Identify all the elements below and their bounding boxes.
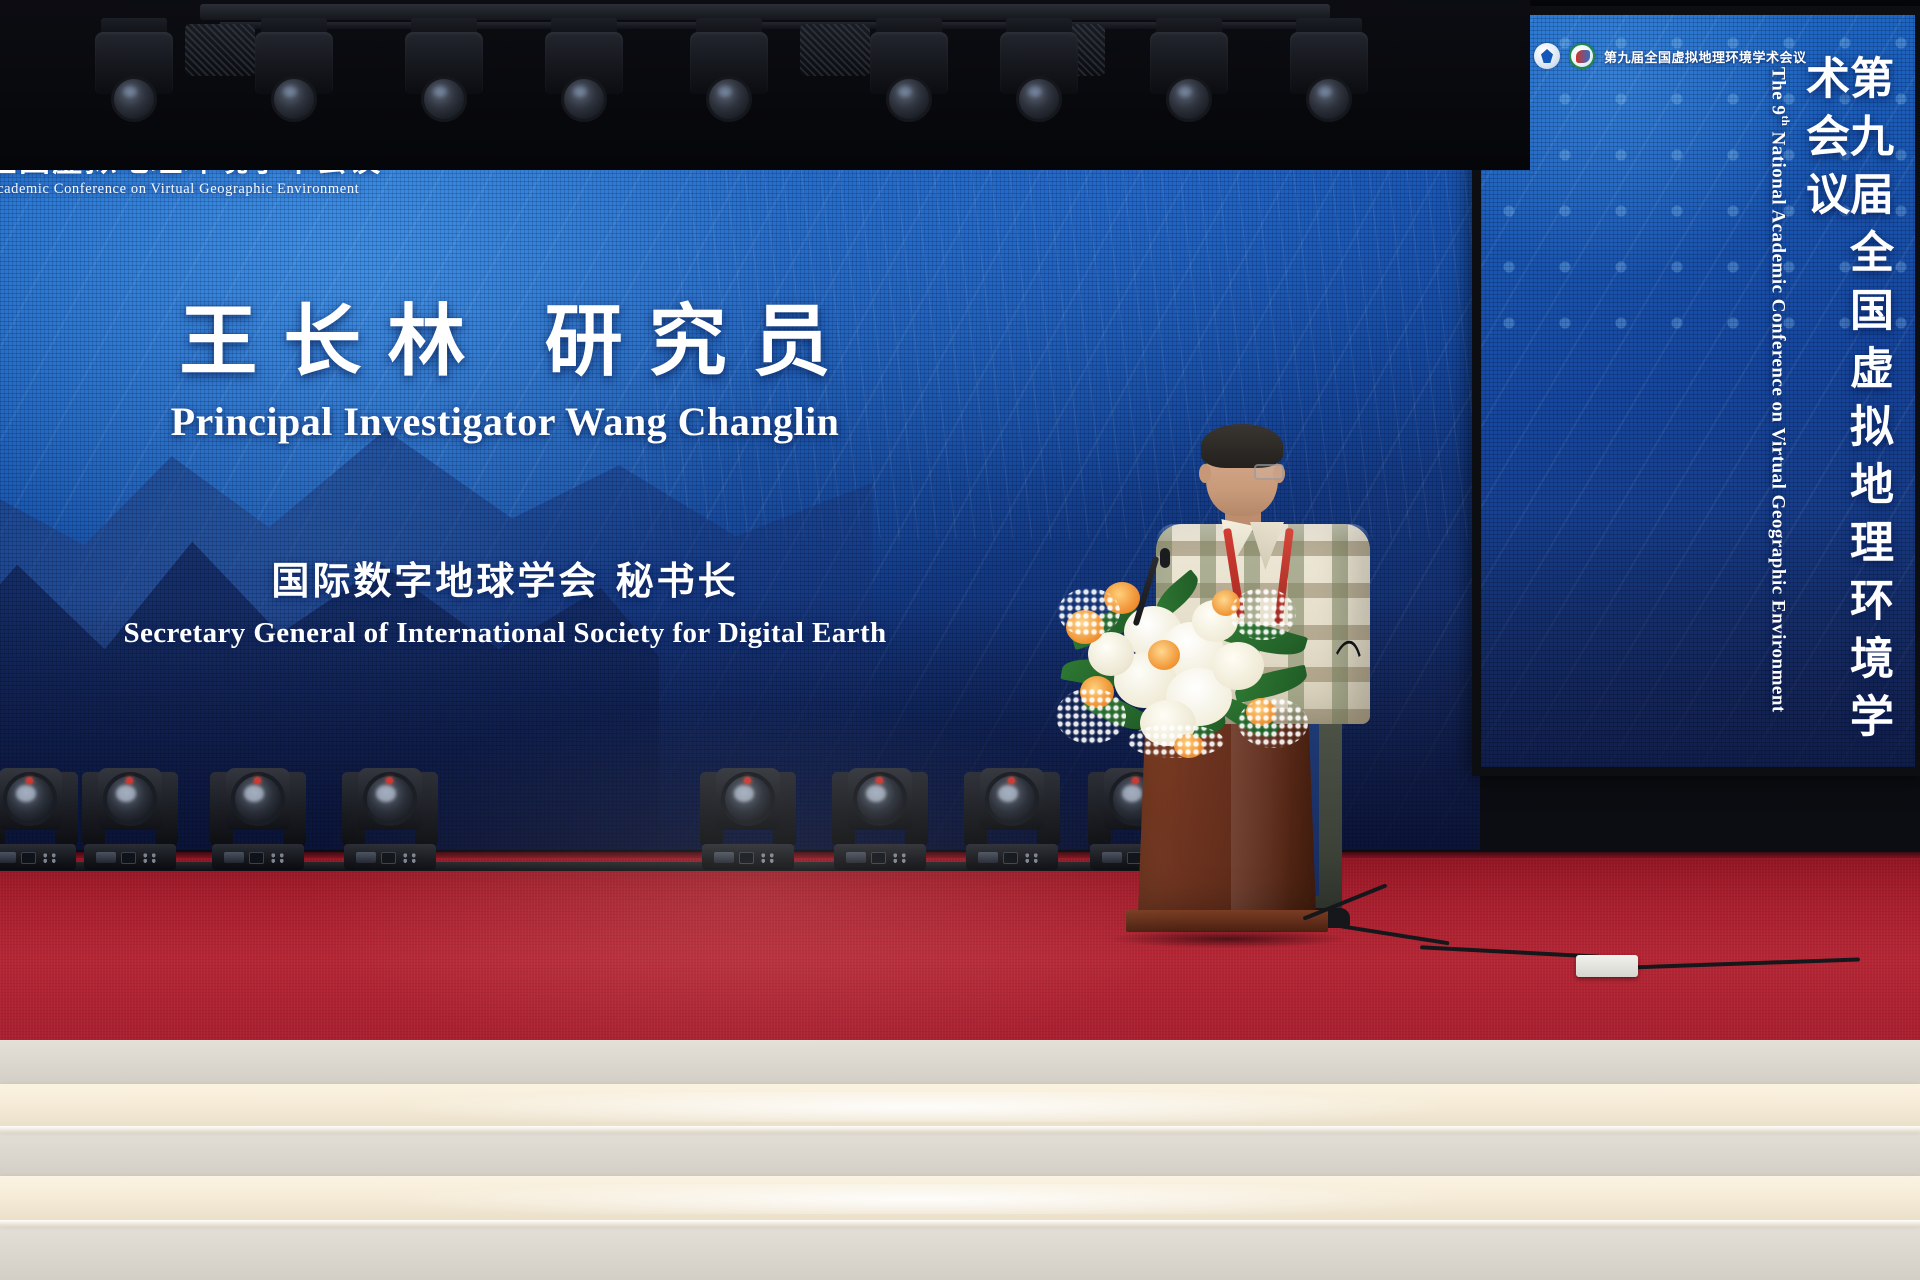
babys-breath-spray bbox=[1238, 698, 1308, 748]
speaker-role-cn: 国际数字地球学会 秘书长 bbox=[0, 550, 1010, 605]
floor-moving-head-light bbox=[342, 752, 438, 870]
hanging-moving-light bbox=[405, 18, 483, 126]
ceiling-speaker-grille bbox=[800, 24, 870, 76]
right-screen-logo-row: 第九届全国虚拟地理环境学术会议 bbox=[1499, 43, 1807, 69]
babys-breath-spray bbox=[1056, 688, 1126, 744]
floor-moving-head-light bbox=[0, 752, 78, 870]
speaker-title-block: 王长林 研究员 Principal Investigator Wang Chan… bbox=[0, 300, 1010, 650]
speaker-glasses-icon bbox=[1254, 464, 1284, 480]
society-logo-3-icon bbox=[1569, 43, 1595, 69]
power-adapter-brick bbox=[1576, 955, 1638, 977]
right-led-panel-frame: 第九届全国虚拟地理环境学术会议 第九届全国虚拟地理环境学术会议 The 9th … bbox=[1472, 6, 1920, 776]
vertical-en-rest: National Academic Conference on Virtual … bbox=[1768, 126, 1789, 713]
speaker-name-en: Principal Investigator Wang Changlin bbox=[0, 398, 1010, 445]
orange-flower bbox=[1148, 640, 1180, 670]
speaker-hair bbox=[1201, 424, 1283, 468]
babys-breath-spray bbox=[1128, 724, 1224, 758]
conference-stage-photo: 全国虚拟地理环境学术会议 Academic Conference on Virt… bbox=[0, 0, 1920, 1280]
microphone-head-icon bbox=[1160, 548, 1170, 568]
floor-moving-head-light bbox=[210, 752, 306, 870]
hanging-moving-light bbox=[870, 18, 948, 126]
vertical-en-prefix: The 9 bbox=[1768, 67, 1789, 115]
floor-moving-head-light bbox=[832, 752, 928, 870]
speaker-name-cn: 王长林 研究员 bbox=[0, 300, 1010, 386]
step-riser bbox=[0, 1130, 1920, 1176]
right-led-screen: 第九届全国虚拟地理环境学术会议 第九届全国虚拟地理环境学术会议 The 9th … bbox=[1481, 15, 1915, 767]
hanging-moving-light bbox=[255, 18, 333, 126]
floral-arrangement bbox=[1062, 548, 1312, 748]
ceiling-speaker-grille bbox=[185, 24, 255, 76]
hanging-moving-light bbox=[1290, 18, 1368, 126]
babys-breath-spray bbox=[1058, 588, 1120, 636]
society-logo-2-icon bbox=[1534, 43, 1560, 69]
white-flower bbox=[1212, 642, 1264, 690]
floor-moving-head-light bbox=[700, 752, 796, 870]
right-screen-vertical-title-cn: 第九届全国虚拟地理环境学术会议 bbox=[1801, 55, 1889, 767]
floor-moving-head-light bbox=[964, 752, 1060, 870]
step-riser bbox=[0, 1040, 1920, 1084]
corner-banner-en: Academic Conference on Virtual Geographi… bbox=[0, 181, 382, 198]
hanging-moving-light bbox=[1000, 18, 1078, 126]
speaker-ear-left bbox=[1199, 464, 1211, 483]
vertical-en-ordinal: th bbox=[1779, 115, 1791, 126]
step-riser bbox=[0, 1224, 1920, 1280]
podium-base bbox=[1126, 910, 1328, 932]
stage-step bbox=[0, 1176, 1920, 1224]
red-stage-carpet bbox=[0, 852, 1920, 1044]
right-screen-top-bar-text: 第九届全国虚拟地理环境学术会议 bbox=[1604, 47, 1807, 66]
podium-shadow bbox=[1110, 930, 1346, 948]
hanging-moving-light bbox=[95, 18, 173, 126]
floor-moving-head-light bbox=[82, 752, 178, 870]
hanging-moving-light bbox=[690, 18, 768, 126]
right-screen-vertical-title-en: The 9th National Academic Conference on … bbox=[1767, 67, 1791, 713]
babys-breath-spray bbox=[1230, 588, 1296, 640]
speaker-role-en: Secretary General of International Socie… bbox=[0, 617, 1010, 650]
hanging-moving-light bbox=[545, 18, 623, 126]
stage-step bbox=[0, 1084, 1920, 1130]
hanging-moving-light bbox=[1150, 18, 1228, 126]
